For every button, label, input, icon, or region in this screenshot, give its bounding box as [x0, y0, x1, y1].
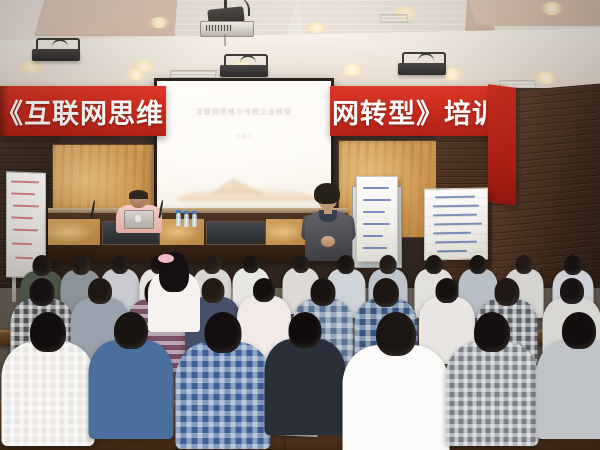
audience-member-head [311, 278, 336, 306]
audience-member [184, 312, 262, 419]
table-wood-panel [48, 219, 100, 245]
banner-text-left: 《互联网思维 [0, 92, 164, 131]
water-bottle [184, 214, 189, 227]
banner-draped-edge [488, 84, 516, 205]
audience-member [272, 312, 338, 415]
audience-member-head [560, 278, 584, 304]
audience-member-head [470, 255, 487, 274]
audience-member-head [380, 255, 397, 274]
audience-member-head [474, 312, 510, 352]
downlight [540, 2, 564, 15]
banner-shadow-fold [0, 86, 9, 136]
audience-member-head [289, 312, 322, 348]
audience-member-head [30, 278, 55, 306]
presenter-hands [321, 236, 335, 247]
banner-right-half: 网转型》培训 [330, 86, 498, 136]
audience-member-torso [537, 340, 600, 439]
audience-member-head [562, 312, 596, 349]
audience-member-head [564, 255, 582, 275]
audience-member-torso [265, 339, 346, 435]
audience-member-torso [89, 340, 174, 439]
audience-member-head [33, 255, 52, 276]
audience-member-torso [343, 345, 450, 450]
audience-member-head [516, 255, 533, 274]
water-bottle [176, 213, 181, 226]
audience-member-head [426, 255, 443, 274]
audience-member-head [373, 278, 399, 307]
laptop-logo-icon [135, 215, 141, 222]
audience-member [544, 312, 600, 416]
audience-member-torso [446, 342, 539, 446]
audience-member-head [436, 278, 459, 303]
audience-member-head [112, 255, 129, 274]
presenter-hair [314, 183, 340, 204]
audience-member-head [204, 255, 221, 274]
downlight [306, 22, 328, 33]
audience-member-head [243, 255, 259, 273]
air-vent-icon [379, 14, 408, 23]
water-bottle [192, 214, 197, 227]
downlight [18, 60, 44, 73]
audience-member-head [202, 278, 225, 303]
banner-left-half: 《互联网思维 [0, 86, 166, 136]
audience-member-head [338, 255, 355, 274]
audience-member-head [114, 312, 148, 349]
ceiling-projector [196, 0, 256, 42]
audience-member [10, 312, 86, 418]
training-room-photo: 互联网思维与传统企业转型 主讲人 《互联网思维 网转型》培训 [0, 0, 600, 450]
audience-member-head [253, 278, 275, 302]
audience-member-head [495, 278, 520, 306]
laptop [124, 210, 152, 229]
audience-member-head [293, 255, 309, 273]
audience-member-torso [2, 342, 95, 446]
standing-presenter [300, 183, 358, 263]
hair-bow-icon [158, 254, 174, 263]
table-wood-panel [160, 219, 204, 245]
downlight [340, 64, 364, 76]
slide-title: 互联网思维与传统企业转型 [157, 107, 331, 117]
table-front-panel [206, 221, 266, 245]
downlight [132, 60, 156, 72]
downlight [534, 72, 558, 84]
banner-text-right: 网转型》培训 [332, 92, 498, 131]
audience-member [352, 312, 440, 422]
audience-member-head [72, 255, 90, 275]
audience-member-head [376, 312, 416, 356]
audience-member-head [30, 312, 66, 352]
slide-subtitle: 主讲人 [157, 133, 331, 140]
audience-member-head [88, 278, 112, 304]
host-hair [129, 190, 148, 199]
audience-member [96, 312, 166, 416]
audience-member-torso [176, 342, 271, 449]
downlight [148, 17, 170, 28]
ceiling-bay-panel [460, 0, 600, 26]
audience-member [454, 312, 530, 418]
flipchart-center [356, 176, 398, 262]
audience-member-head [205, 312, 242, 353]
flipchart-right [424, 187, 488, 260]
